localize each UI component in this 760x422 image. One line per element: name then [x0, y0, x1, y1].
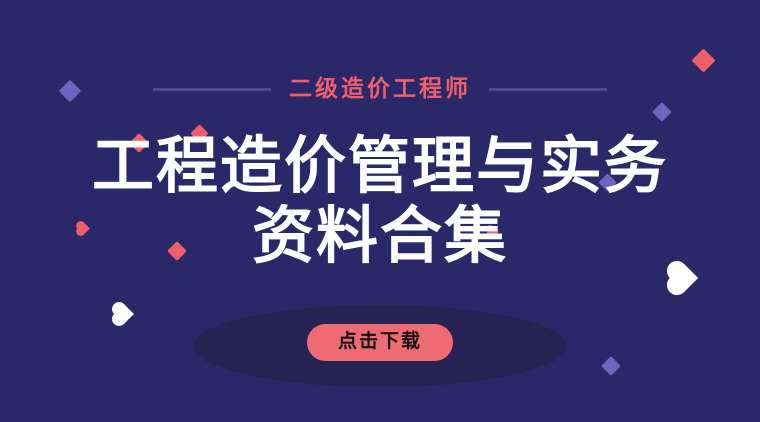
- heart-icon: [114, 304, 134, 324]
- download-button[interactable]: 点击下载: [307, 324, 453, 361]
- diamond-icon: [691, 48, 715, 72]
- title-line-2: 资料合集: [0, 204, 760, 268]
- cta-container: 点击下载: [0, 324, 760, 361]
- divider-line-right: [489, 88, 607, 91]
- poster-title: 工程造价管理与实务 资料合集: [0, 134, 760, 268]
- diamond-icon: [652, 102, 672, 122]
- poster-subtitle: 二级造价工程师: [289, 78, 471, 101]
- divider-line-left: [153, 88, 271, 91]
- poster-banner: 二级造价工程师 工程造价管理与实务 资料合集 点击下载: [0, 0, 760, 422]
- heart-icon: [670, 264, 698, 292]
- subtitle-row: 二级造价工程师: [0, 78, 760, 101]
- title-line-1: 工程造价管理与实务: [0, 134, 760, 198]
